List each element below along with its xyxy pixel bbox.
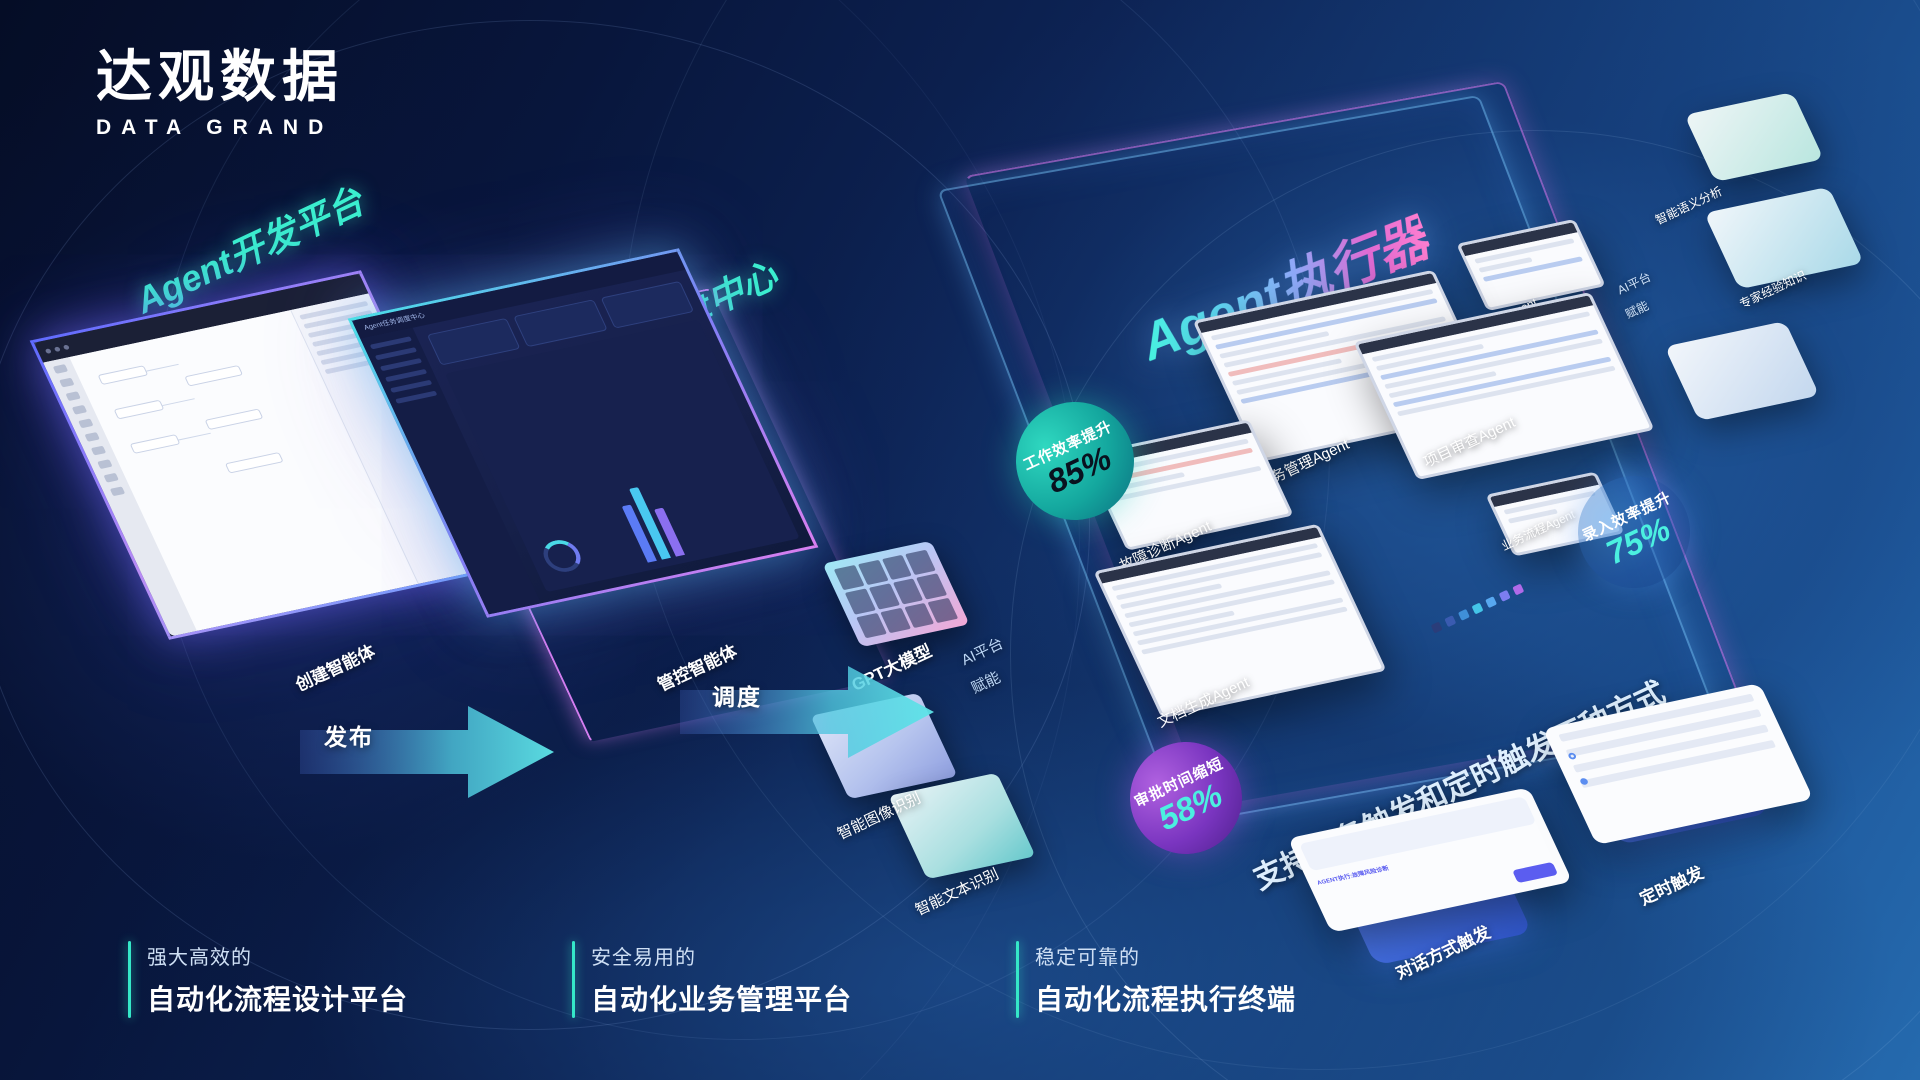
caption-accent-bar bbox=[1016, 941, 1019, 1018]
tool-icon bbox=[97, 459, 112, 469]
caption-subtitle: 强大高效的 bbox=[147, 941, 408, 970]
caption-title: 自动化流程执行终端 bbox=[1035, 978, 1296, 1018]
tool-icon bbox=[91, 446, 106, 456]
flow-node bbox=[225, 452, 284, 473]
tool-icon bbox=[53, 364, 68, 374]
bottom-captions: 强大高效的 自动化流程设计平台 安全易用的 自动化业务管理平台 稳定可靠的 自动… bbox=[128, 941, 1296, 1018]
logo-chinese-name: 达观数据 bbox=[96, 46, 344, 108]
arrow-label-schedule: 调度 bbox=[712, 678, 762, 712]
donut-chart bbox=[538, 537, 587, 575]
label-ai-platform-empower: AI平台 bbox=[958, 632, 1007, 670]
logo-english-name: DATA GRAND bbox=[96, 116, 344, 140]
label-create-agent: 创建智能体 bbox=[291, 637, 379, 696]
flow-connector bbox=[146, 364, 179, 372]
metric-card bbox=[427, 318, 521, 366]
tool-icon bbox=[84, 432, 99, 442]
nav-item bbox=[370, 336, 412, 349]
caption-item: 安全易用的 自动化业务管理平台 bbox=[572, 941, 852, 1018]
flow-node bbox=[98, 365, 149, 385]
nav-item bbox=[385, 369, 427, 382]
flow-connector bbox=[178, 433, 211, 441]
arrow-publish bbox=[300, 700, 560, 810]
label-right-ai-platform-2: 赋能 bbox=[1622, 297, 1651, 323]
card-knowledge-graph bbox=[1664, 321, 1819, 421]
arrow-schedule bbox=[680, 660, 940, 770]
metric-card bbox=[600, 281, 694, 329]
label-ai-platform-empower-2: 赋能 bbox=[968, 666, 1004, 698]
caption-title: 自动化业务管理平台 bbox=[591, 978, 852, 1018]
window-dot bbox=[45, 348, 52, 354]
tool-icon bbox=[103, 473, 118, 483]
flow-node bbox=[114, 400, 165, 420]
tool-icon bbox=[72, 405, 87, 415]
card-semantic-analysis bbox=[1684, 92, 1824, 182]
card-grid bbox=[834, 550, 958, 639]
metric-card bbox=[513, 299, 607, 347]
tool-icon bbox=[59, 378, 74, 388]
nav-item bbox=[375, 347, 417, 360]
caption-accent-bar bbox=[128, 941, 131, 1018]
content-row bbox=[1397, 366, 1616, 417]
label-right-ai-platform: AI平台 bbox=[1614, 268, 1653, 298]
flow-node bbox=[130, 434, 181, 454]
card-chat-trigger: AGENT执行:故障风险诊断 bbox=[1288, 787, 1573, 932]
tool-icon bbox=[78, 418, 93, 428]
flow-node bbox=[184, 365, 243, 386]
caption-title: 自动化流程设计平台 bbox=[147, 978, 408, 1018]
flow-connector bbox=[162, 398, 195, 406]
arrow-label-publish: 发布 bbox=[324, 718, 374, 752]
window-dot bbox=[63, 344, 70, 350]
flow-node bbox=[205, 409, 264, 430]
caption-item: 强大高效的 自动化流程设计平台 bbox=[128, 941, 408, 1018]
tool-icon bbox=[65, 391, 80, 401]
label-timed-trigger: 定时触发 bbox=[1635, 858, 1707, 909]
nav-item bbox=[380, 358, 422, 371]
caption-item: 稳定可靠的 自动化流程执行终端 bbox=[1016, 941, 1296, 1018]
caption-accent-bar bbox=[572, 941, 575, 1018]
execute-button[interactable] bbox=[1512, 862, 1558, 883]
infographic-canvas: 达观数据 DATA GRAND Agent开发平台 Multi-Agent中心 … bbox=[0, 0, 1920, 1080]
window-dot bbox=[54, 346, 61, 352]
brand-logo: 达观数据 DATA GRAND bbox=[96, 46, 344, 140]
nav-item bbox=[390, 380, 432, 393]
nav-item bbox=[395, 391, 437, 404]
tool-icon bbox=[110, 486, 125, 496]
caption-subtitle: 稳定可靠的 bbox=[1035, 941, 1296, 970]
caption-subtitle: 安全易用的 bbox=[591, 941, 852, 970]
